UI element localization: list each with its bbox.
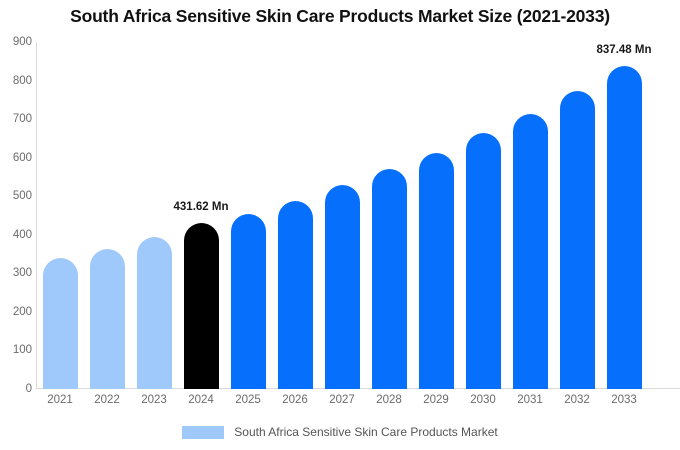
bar-2023[interactable] — [137, 237, 172, 389]
bar-2027[interactable] — [325, 185, 360, 389]
plot-area: 0100200300400500600700800900 20212022202… — [36, 42, 680, 389]
bar-2025[interactable] — [231, 214, 266, 389]
y-axis-tick-label: 200 — [0, 306, 32, 318]
legend-swatch-icon — [182, 426, 224, 439]
bar-2032[interactable] — [560, 91, 595, 389]
bar-2021[interactable] — [43, 258, 78, 389]
bar-2030[interactable] — [466, 133, 501, 389]
x-axis-tick-label: 2033 — [594, 394, 654, 406]
y-axis-tick-label: 900 — [0, 36, 32, 48]
chart-legend: South Africa Sensitive Skin Care Product… — [0, 425, 680, 439]
bar-2026[interactable] — [278, 201, 313, 389]
value-label-2033: 837.48 Mn — [597, 44, 652, 56]
bar-2033[interactable] — [607, 66, 642, 389]
bar-2028[interactable] — [372, 169, 407, 389]
chart-container: South Africa Sensitive Skin Care Product… — [0, 0, 680, 450]
y-axis-tick-label: 700 — [0, 113, 32, 125]
value-label-2024: 431.62 Mn — [174, 201, 229, 213]
y-axis-line — [36, 42, 37, 389]
bar-2022[interactable] — [90, 249, 125, 389]
chart-title: South Africa Sensitive Skin Care Product… — [0, 6, 680, 27]
legend-label: South Africa Sensitive Skin Care Product… — [234, 425, 497, 439]
y-axis-tick-label: 0 — [0, 383, 32, 395]
y-axis-tick-label: 500 — [0, 190, 32, 202]
y-axis-tick-label: 300 — [0, 267, 32, 279]
bar-2024[interactable] — [184, 223, 219, 389]
y-axis-tick-label: 100 — [0, 344, 32, 356]
y-axis-tick-label: 400 — [0, 229, 32, 241]
bar-2029[interactable] — [419, 153, 454, 389]
y-axis-tick-label: 800 — [0, 75, 32, 87]
bar-2031[interactable] — [513, 114, 548, 389]
y-axis-tick-label: 600 — [0, 152, 32, 164]
